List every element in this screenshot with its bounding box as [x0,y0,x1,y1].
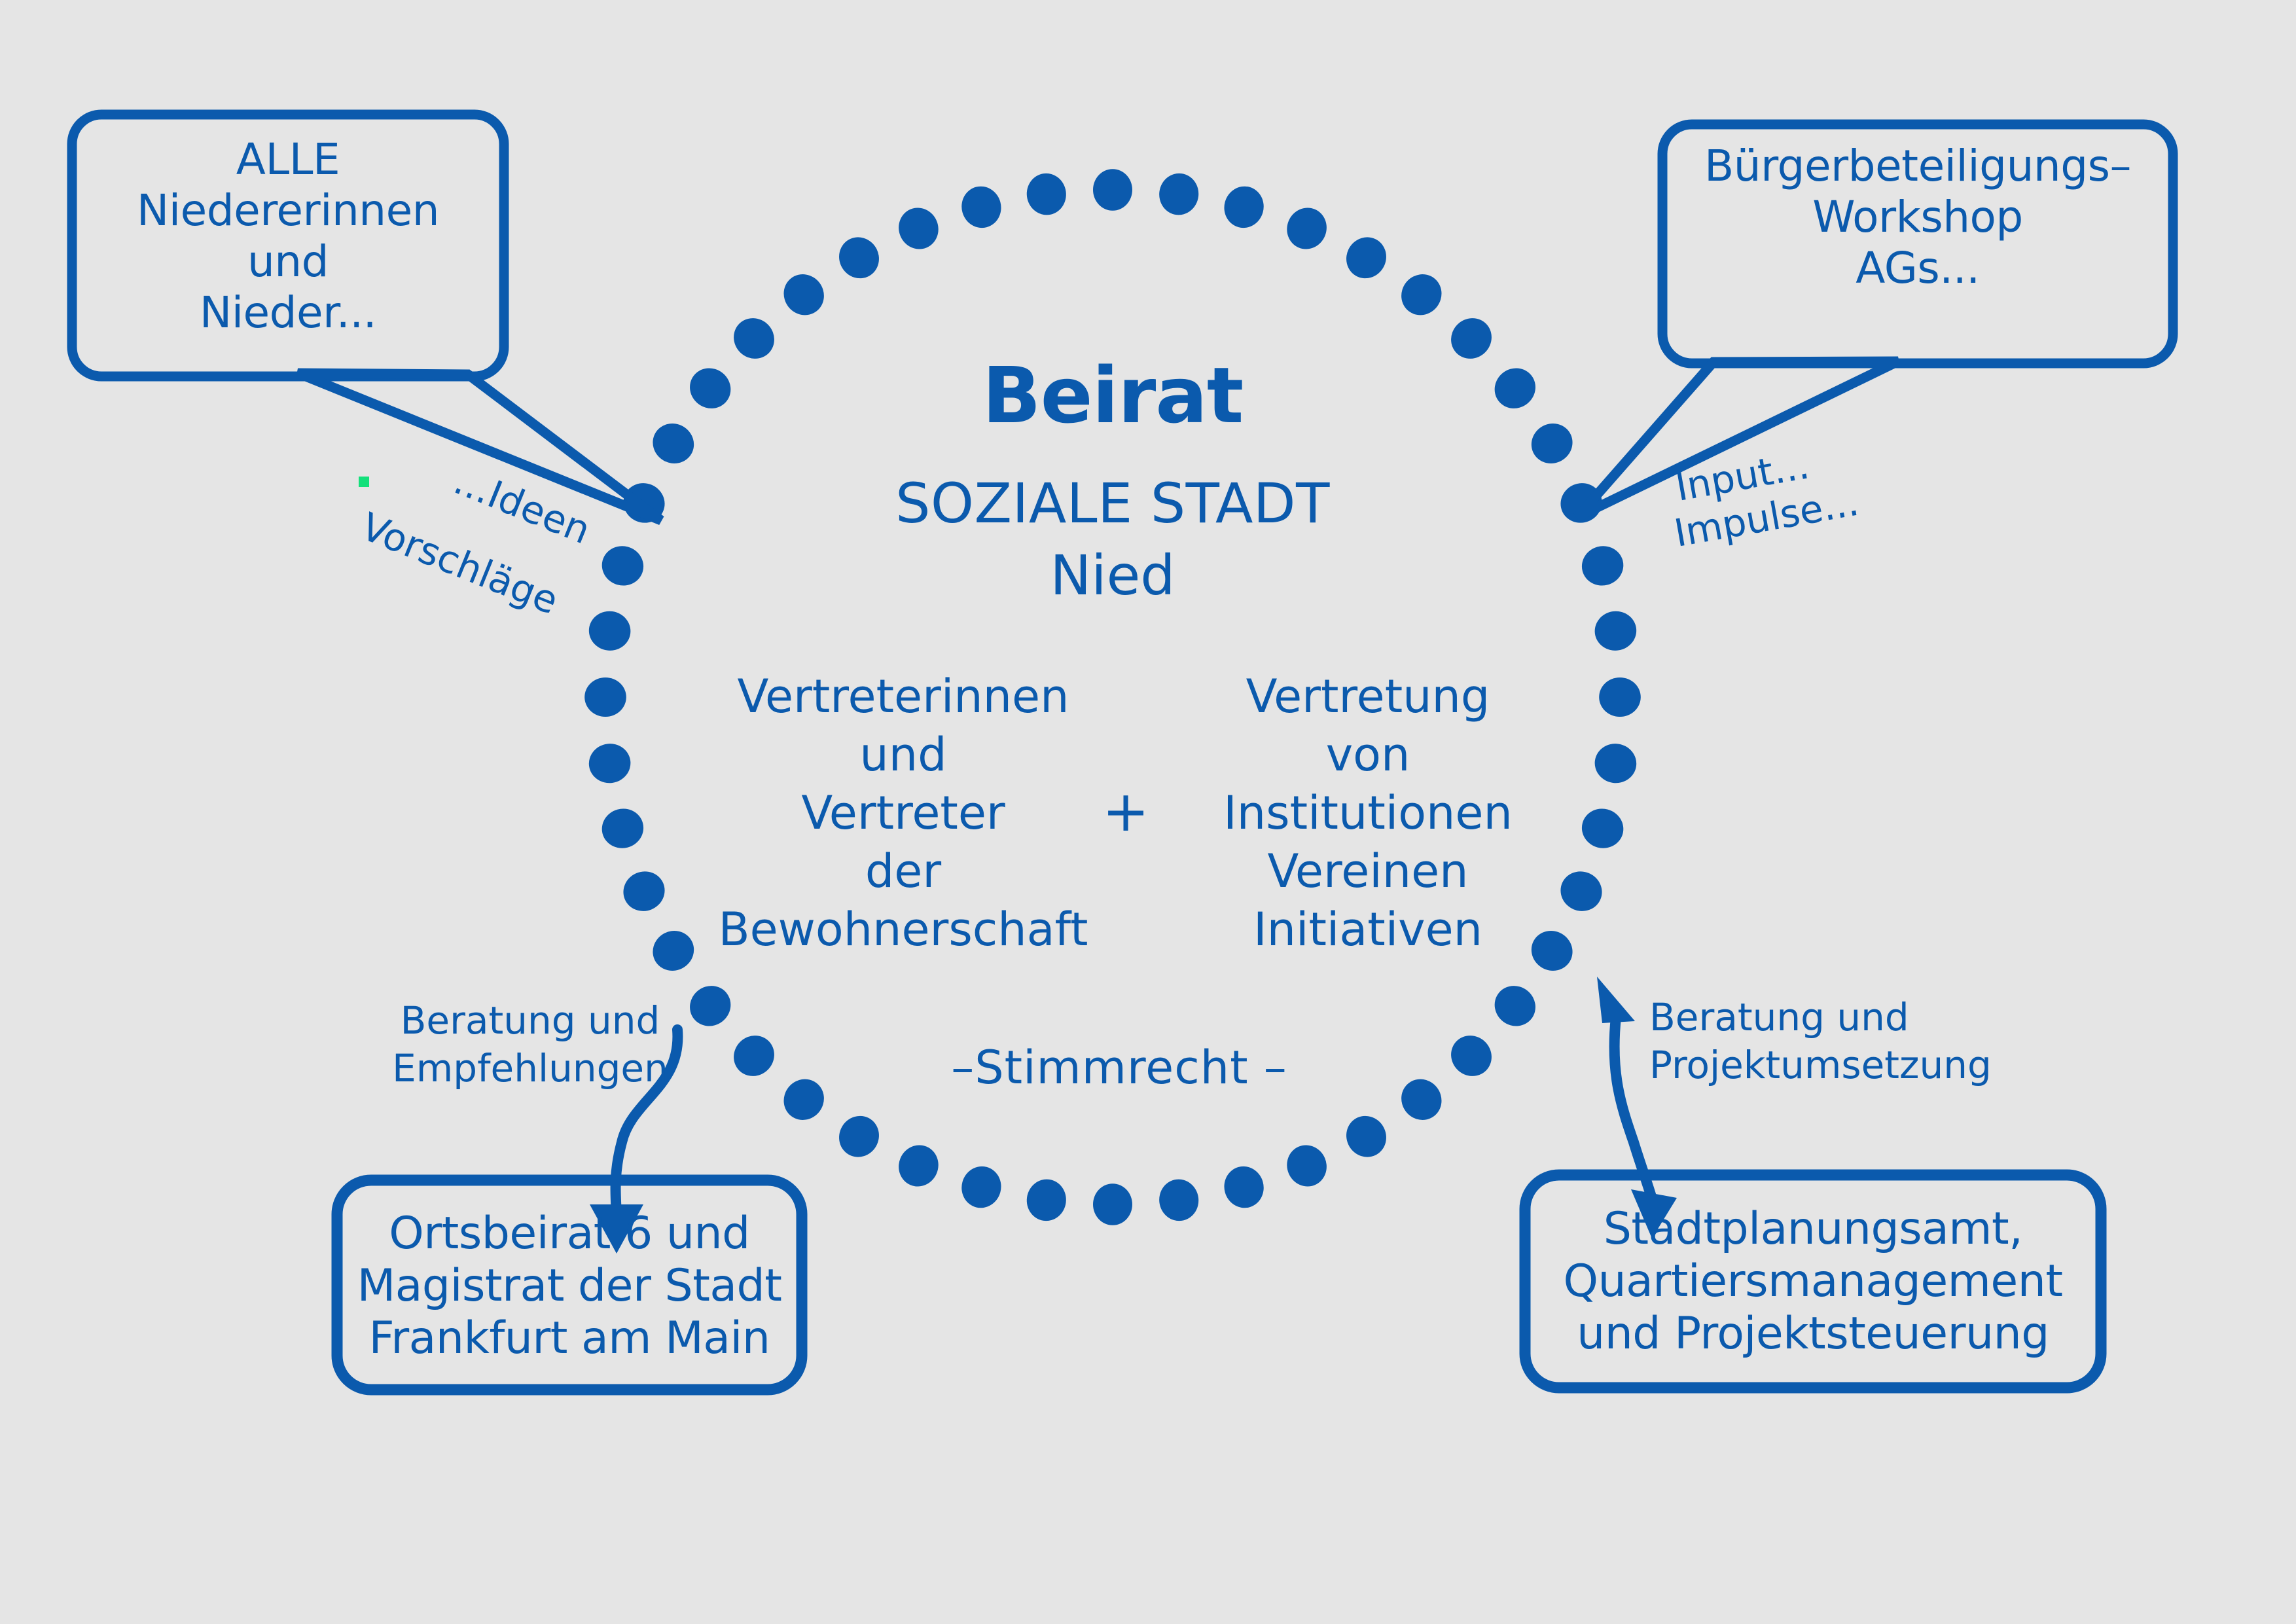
ring-dot [893,1139,945,1193]
ring-dot [1339,230,1394,285]
ring-dot [1024,1177,1069,1223]
ring-dot [586,741,633,785]
ring-dot [1024,171,1069,217]
ring-dot [776,266,832,323]
core-footer-stimmrecht: –Stimmrecht – [916,1041,1322,1095]
arrow-label-right: Beratung und Projektumsetzung [1649,994,2016,1089]
core-subtitle-line2: Nied [772,543,1453,608]
ring-dot [645,924,701,979]
ring-dot [1577,804,1628,852]
bubble-top-left-text: ALLE Niedererinnen und Nieder... [101,134,475,338]
green-accent-dot [359,477,369,487]
ring-dot [1592,609,1639,653]
ring-dot [1393,1071,1450,1128]
ring-dot [1393,266,1450,323]
arrow-label-left: Beratung und Empfehlungen [363,997,697,1092]
ring-dot [682,360,739,416]
ring-dot [1524,416,1580,471]
ring-dot [1599,677,1641,717]
ring-dot [598,804,648,852]
core-subtitle-line1: SOZIALE STADT [772,471,1453,536]
ring-dot [725,310,782,367]
ring-dot [1157,171,1201,217]
core-heading: Beirat [838,350,1388,441]
ring-dot [1443,310,1499,367]
ring-dot [1157,1177,1201,1223]
ring-dot [1219,182,1268,232]
ring-dot [1219,1162,1268,1212]
ring-dot [957,1162,1005,1212]
ring-dot [893,202,945,255]
ring-dot [725,1027,782,1084]
ring-dot [645,416,701,471]
core-plus-operator: + [1086,779,1165,845]
ring-dot [1577,541,1628,590]
ring-dot [584,677,626,717]
ring-dot [1592,741,1639,785]
ring-dot [1486,978,1543,1034]
ring-dot [832,1109,887,1164]
ring-dot [957,182,1005,232]
diagram-canvas: ALLE Niedererinnen und Nieder... Bürgerb… [0,0,2296,1624]
ring-dot [1281,202,1333,255]
ring-dot [1281,1139,1333,1193]
ring-dot [617,865,671,918]
bubble-top-right-text: Bürgerbeteiligungs– Workshop AGs... [1692,141,2144,294]
ring-dot [832,230,887,285]
ring-dot [776,1071,832,1128]
ring-dot [1339,1109,1394,1164]
box-bottom-left-text: Ortsbeirat 6 und Magistrat der Stadt Fra… [337,1208,802,1365]
ring-dot [1093,169,1132,211]
core-right-column: Vertretung von Institutionen Vereinen In… [1172,668,1564,958]
core-left-column: Vertreterinnen und Vertreter der Bewohne… [707,668,1100,958]
ring-dot [1486,360,1543,416]
ring-dot [1443,1027,1499,1084]
box-bottom-right-text: Stadtplanungsamt, Quartiersmanagement un… [1525,1203,2101,1361]
ring-dot [1093,1183,1132,1225]
